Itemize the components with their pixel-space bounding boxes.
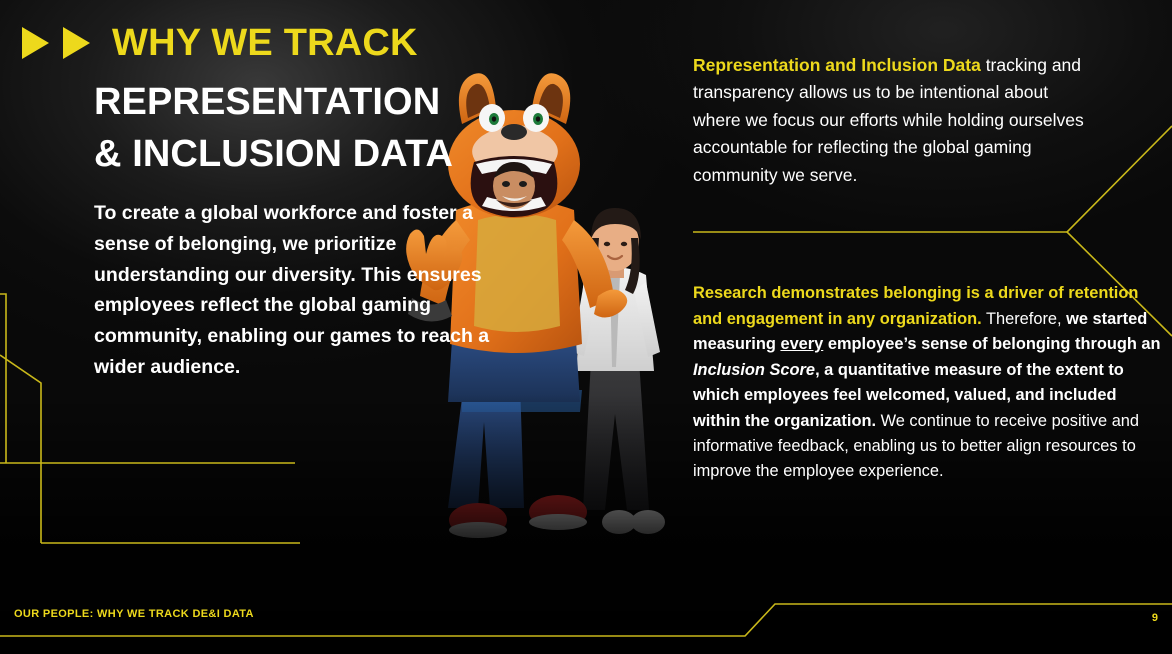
right-column: Representation and Inclusion Data tracki… [693,34,1093,207]
slide: WHY WE TRACK REPRESENTATION & INCLUSION … [0,0,1172,654]
lead-paragraph: To create a global workforce and foster … [94,198,494,383]
footer-label: OUR PEOPLE: WHY WE TRACK DE&I DATA [14,608,254,620]
right-paragraph-1: Representation and Inclusion Data tracki… [693,52,1093,190]
play-triangle-icon [22,27,49,59]
page-number: 9 [1152,612,1158,624]
paragraph-2-seg-6: Inclusion Score [693,361,815,379]
paragraph-2-seg-4: every [780,335,823,353]
eyebrow-title: WHY WE TRACK [112,24,418,62]
paragraph-2-seg-2: Therefore, [982,310,1066,328]
eyebrow-row: WHY WE TRACK [22,24,418,62]
paragraph-2-seg-5: employee’s sense of belonging through an [823,335,1160,353]
headline-line-2: & INCLUSION DATA [94,128,453,180]
headline-line-1: REPRESENTATION [94,76,453,128]
right-paragraph-2: Research demonstrates belonging is a dri… [693,281,1163,484]
page-title: REPRESENTATION & INCLUSION DATA [94,76,453,181]
play-triangle-icon-2 [63,27,90,59]
paragraph-1-highlight: Representation and Inclusion Data [693,55,981,75]
